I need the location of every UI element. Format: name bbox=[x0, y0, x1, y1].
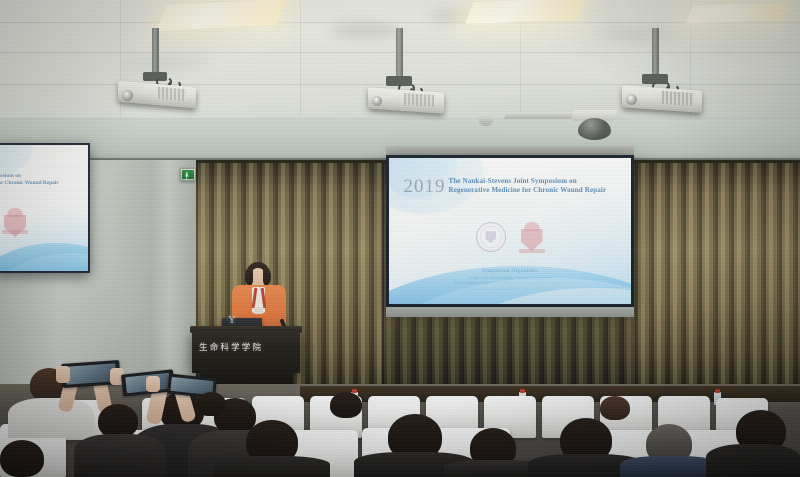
audience-shoulders bbox=[706, 444, 800, 477]
nankai-university-seal bbox=[476, 222, 506, 252]
left-auxiliary-screen: Joint Symposium on Medicine for Chronic … bbox=[0, 143, 90, 273]
audience-shoulders bbox=[74, 434, 166, 477]
bottle-cap bbox=[520, 389, 525, 393]
aux-slide-title-line2: Medicine for Chronic Wound Repair bbox=[0, 180, 84, 188]
audience-head bbox=[0, 440, 44, 477]
audience-head bbox=[98, 404, 138, 438]
wall-column bbox=[150, 160, 198, 386]
emergency-exit-sign bbox=[180, 168, 196, 181]
bottle-cap bbox=[715, 389, 720, 393]
presentation-slide: 2019 The Nankai-Stevens Joint Symposium … bbox=[389, 158, 631, 304]
audience-head bbox=[600, 396, 630, 420]
audience-head bbox=[330, 392, 362, 418]
conference-photo: Joint Symposium on Medicine for Chronic … bbox=[0, 0, 800, 477]
podium-sign-text: 生命科学学院 bbox=[199, 341, 263, 353]
slide-title-line2: Regenerative Medicine for Chronic Wound … bbox=[449, 186, 607, 195]
main-projection-screen: 2019 The Nankai-Stevens Joint Symposium … bbox=[386, 155, 634, 307]
nankai-logo-glyph: Y bbox=[228, 315, 236, 326]
screen-bottom-bar bbox=[386, 307, 634, 317]
audience-shoulders bbox=[214, 456, 330, 477]
audience-head bbox=[196, 392, 226, 416]
presenter-hair-side bbox=[245, 268, 253, 285]
recessed-panel-light bbox=[686, 2, 789, 23]
stevens-institute-emblem bbox=[519, 222, 545, 253]
recessed-panel-light bbox=[465, 0, 586, 24]
audience-shoulders bbox=[620, 456, 720, 477]
screen-top-housing bbox=[386, 146, 634, 155]
stage-curtain-right bbox=[636, 163, 800, 388]
presenter-badge bbox=[254, 307, 263, 314]
slide-title-line1: The Nankai-Stevens Joint Symposium on bbox=[449, 177, 607, 186]
exit-running-man-icon bbox=[185, 172, 189, 180]
presenter-hair-side bbox=[263, 268, 271, 285]
slide-year: 2019 bbox=[404, 177, 446, 196]
lectern: Y 生命科学学院 bbox=[192, 331, 300, 373]
stevens-institute-emblem bbox=[2, 208, 24, 234]
aux-slide-title-line1: Joint Symposium on bbox=[0, 173, 84, 181]
